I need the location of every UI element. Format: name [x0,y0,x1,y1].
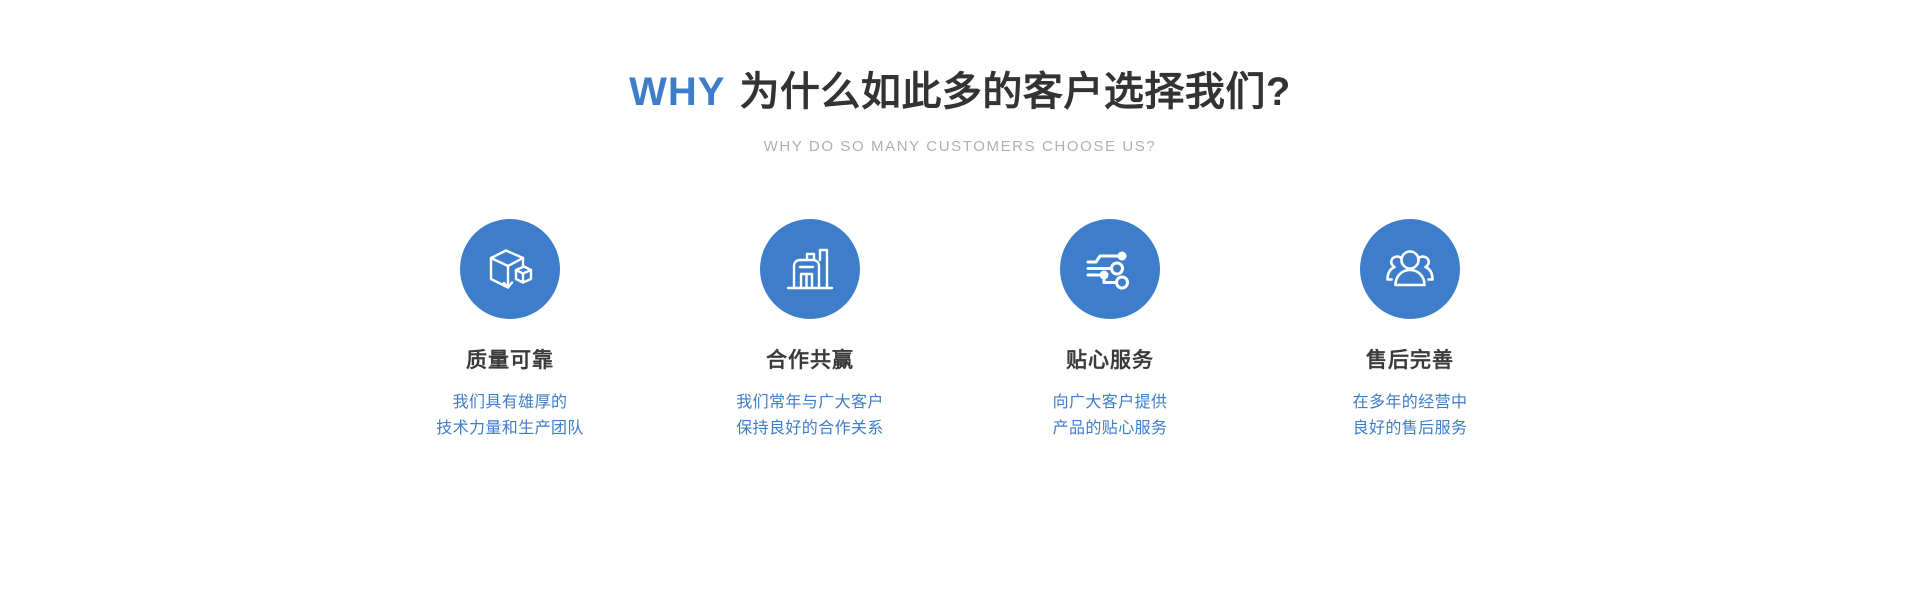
card-title: 合作共赢 [766,347,854,374]
icon-circle [460,219,560,319]
icon-circle [1060,219,1160,319]
feature-card[interactable]: 售后完善 在多年的经营中 良好的售后服务 [1285,219,1535,442]
card-description-line: 保持良好的合作关系 [736,416,884,442]
card-description: 我们具有雄厚的 技术力量和生产团队 [436,390,584,442]
card-description-line: 技术力量和生产团队 [436,416,584,442]
factory-icon [782,241,838,297]
circuit-network-icon [1082,241,1138,297]
card-description-line: 良好的售后服务 [1353,416,1468,442]
card-description: 向广大客户提供 产品的贴心服务 [1053,390,1168,442]
card-title: 质量可靠 [466,347,554,374]
title-prefix-why: WHY [629,70,725,114]
icon-circle [1360,219,1460,319]
card-description: 在多年的经营中 良好的售后服务 [1353,390,1468,442]
feature-card[interactable]: 合作共赢 我们常年与广大客户 保持良好的合作关系 [685,219,935,442]
why-choose-us-section: WHY为什么如此多的客户选择我们? WHY DO SO MANY CUSTOME… [0,0,1920,615]
page-subtitle: WHY DO SO MANY CUSTOMERS CHOOSE US? [0,138,1920,155]
feature-card-list: 质量可靠 我们具有雄厚的 技术力量和生产团队 [385,219,1535,442]
card-description-line: 产品的贴心服务 [1053,416,1168,442]
people-group-icon [1382,241,1438,297]
title-chinese: 为什么如此多的客户选择我们? [739,70,1290,114]
card-description: 我们常年与广大客户 保持良好的合作关系 [736,390,884,442]
card-description-line: 在多年的经营中 [1353,390,1468,416]
icon-circle [760,219,860,319]
card-description-line: 我们具有雄厚的 [436,390,584,416]
heading-block: WHY为什么如此多的客户选择我们? WHY DO SO MANY CUSTOME… [0,68,1920,155]
card-title: 贴心服务 [1066,347,1154,374]
feature-card[interactable]: 质量可靠 我们具有雄厚的 技术力量和生产团队 [385,219,635,442]
card-title: 售后完善 [1366,347,1454,374]
feature-card[interactable]: 贴心服务 向广大客户提供 产品的贴心服务 [985,219,1235,442]
card-description-line: 我们常年与广大客户 [736,390,884,416]
page-title: WHY为什么如此多的客户选择我们? [0,68,1920,116]
card-description-line: 向广大客户提供 [1053,390,1168,416]
package-box-icon [482,241,538,297]
